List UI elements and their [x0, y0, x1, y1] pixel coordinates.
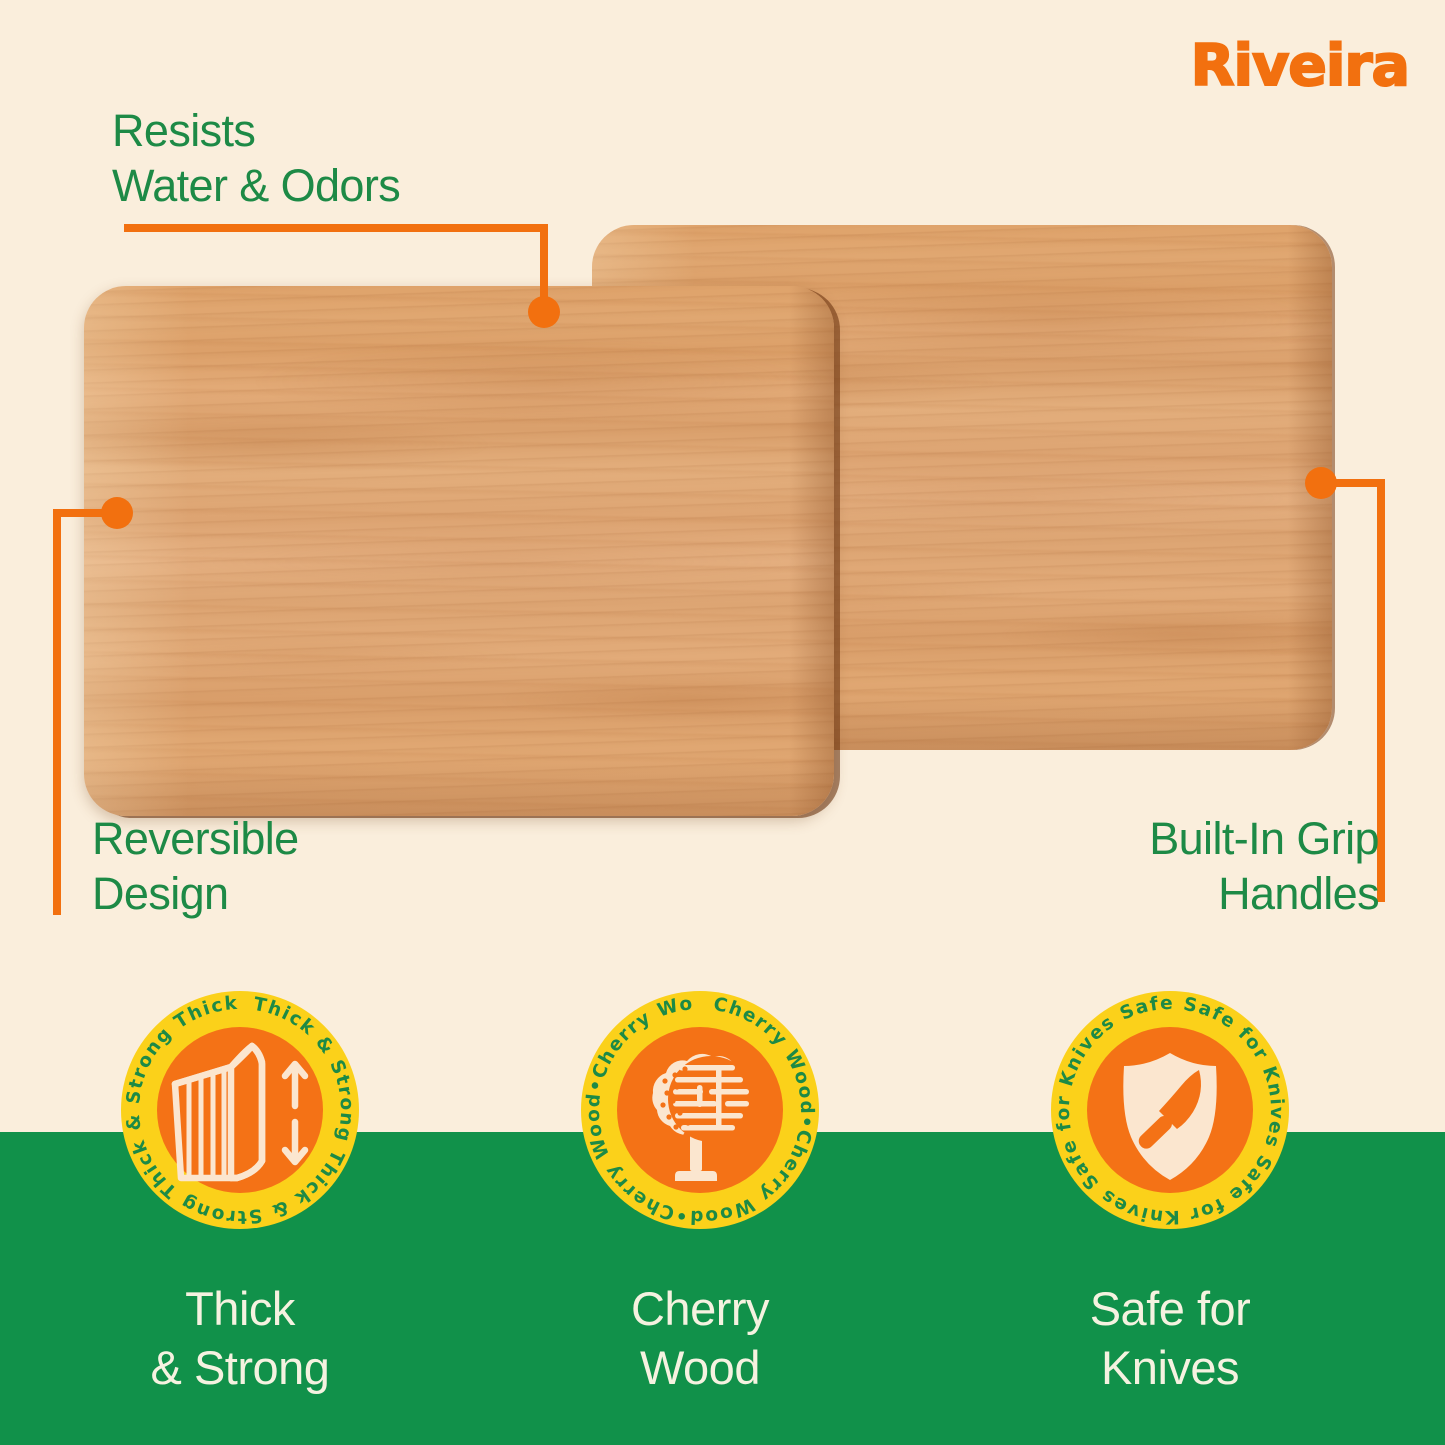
callout-resists-water-odors: Resists Water & Odors	[112, 104, 400, 214]
caption-line-1: Cherry	[520, 1280, 880, 1339]
tree-wood-grain	[668, 1056, 754, 1142]
callout-dot-top	[528, 296, 560, 328]
caption-line-1: Thick	[60, 1280, 420, 1339]
caption-line-2: Knives	[990, 1339, 1350, 1398]
badge-safe-for-knives: Safe for Knives Safe for Knives Safe for…	[1049, 989, 1291, 1231]
front-cutting-board	[84, 286, 834, 816]
caption-thick-and-strong: Thick & Strong	[60, 1280, 420, 1398]
caption-safe-for-knives: Safe for Knives	[990, 1280, 1350, 1398]
callout-reversible-design: Reversible Design	[92, 812, 299, 922]
callout-line-1: Resists	[112, 104, 400, 159]
callout-line-2: Handles	[1149, 867, 1379, 922]
brand-logo: Riveira	[1191, 33, 1409, 99]
infographic-stage: Riveira Resists Water & Odors Reversible…	[0, 0, 1445, 1445]
wood-shading-layer	[84, 286, 834, 816]
badge-cherry-wood: Cherry Wood•Cherry Wood•Cherry Wood•Cher…	[579, 989, 821, 1231]
callout-line-left-vertical	[53, 509, 61, 915]
caption-line-2: & Strong	[60, 1339, 420, 1398]
caption-cherry-wood: Cherry Wood	[520, 1280, 880, 1398]
callout-dot-right	[1305, 467, 1337, 499]
callout-line-1: Built-In Grip	[1149, 812, 1379, 867]
callout-line-2: Water & Odors	[112, 159, 400, 214]
caption-line-2: Wood	[520, 1339, 880, 1398]
callout-dot-left	[101, 497, 133, 529]
callout-line-2: Design	[92, 867, 299, 922]
callout-built-in-grip-handles: Built-In Grip Handles	[1149, 812, 1379, 922]
callout-line-1: Reversible	[92, 812, 299, 867]
badge-thick-and-strong: Thick & Strong Thick & Strong Thick & St…	[119, 989, 361, 1231]
caption-line-1: Safe for	[990, 1280, 1350, 1339]
callout-line-top-horizontal	[124, 224, 548, 232]
